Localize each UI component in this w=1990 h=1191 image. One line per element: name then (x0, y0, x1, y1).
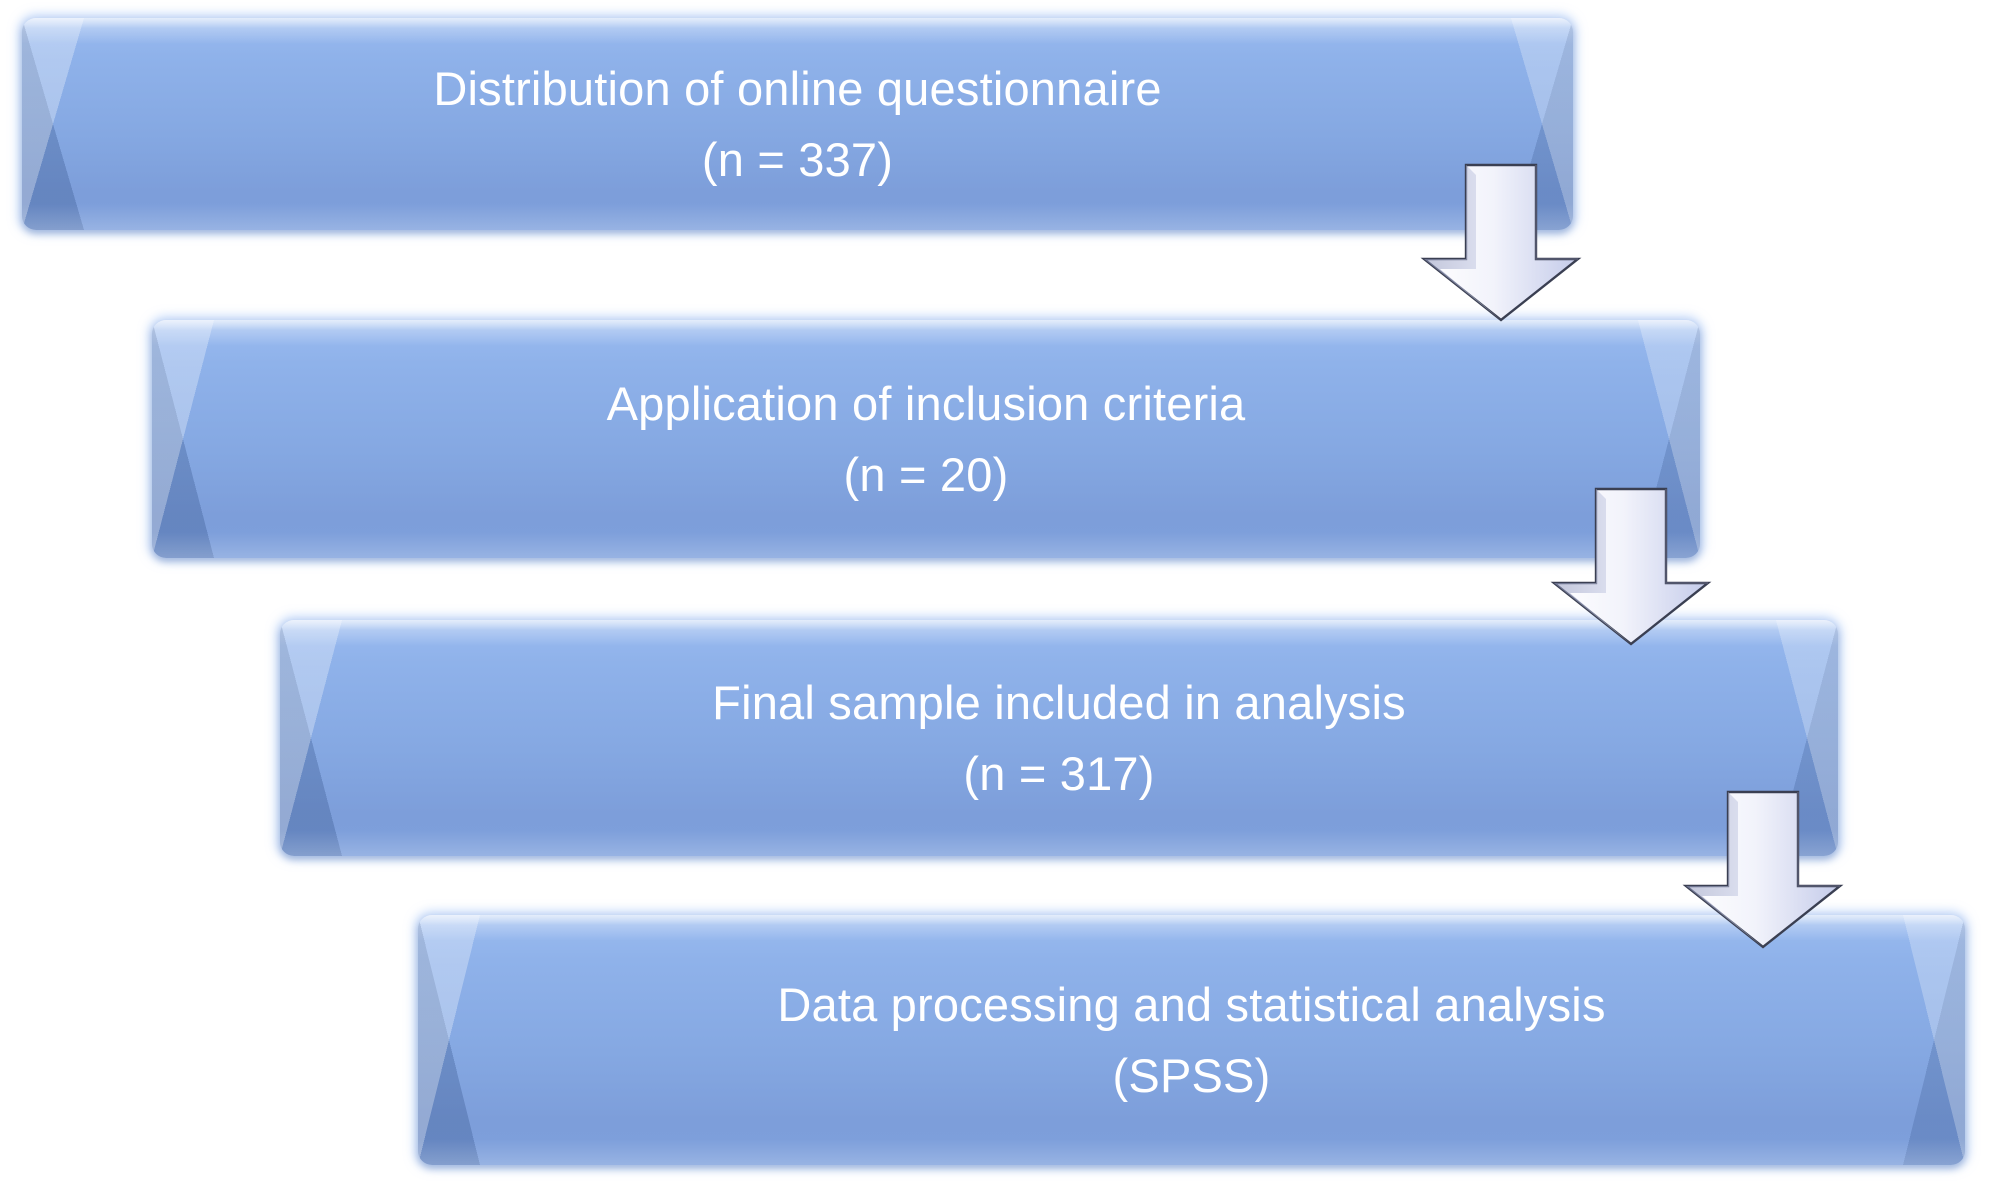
flow-step-label-3: Final sample included in analysis (712, 667, 1406, 738)
flow-step-box-3[interactable]: Final sample included in analysis (n = 3… (280, 620, 1838, 856)
arrow-down-icon (1548, 487, 1714, 647)
flow-step-label-2: Application of inclusion criteria (607, 368, 1246, 439)
flow-step-text-1: Distribution of online questionnaire (n … (22, 18, 1573, 230)
flow-step-label-4: Data processing and statistical analysis (777, 969, 1605, 1040)
flowchart-canvas: Distribution of online questionnaire (n … (0, 0, 1990, 1191)
arrow-down-icon (1418, 163, 1584, 323)
flow-step-text-2: Application of inclusion criteria (n = 2… (152, 320, 1700, 558)
flow-step-box-4[interactable]: Data processing and statistical analysis… (418, 915, 1965, 1165)
flow-step-box-2[interactable]: Application of inclusion criteria (n = 2… (152, 320, 1700, 558)
flow-step-count-3: (n = 317) (963, 738, 1154, 809)
flow-step-text-3: Final sample included in analysis (n = 3… (280, 620, 1838, 856)
flow-step-label-1: Distribution of online questionnaire (433, 53, 1161, 124)
arrow-down-icon (1680, 790, 1846, 950)
arrow-down-icon-1 (1418, 163, 1584, 323)
arrow-down-icon-2 (1548, 487, 1714, 647)
flow-step-count-4: (SPSS) (1113, 1040, 1271, 1111)
flow-step-box-1[interactable]: Distribution of online questionnaire (n … (22, 18, 1573, 230)
flow-step-count-2: (n = 20) (844, 439, 1009, 510)
flow-step-count-1: (n = 337) (702, 124, 893, 195)
flow-step-text-4: Data processing and statistical analysis… (418, 915, 1965, 1165)
arrow-down-icon-3 (1680, 790, 1846, 950)
